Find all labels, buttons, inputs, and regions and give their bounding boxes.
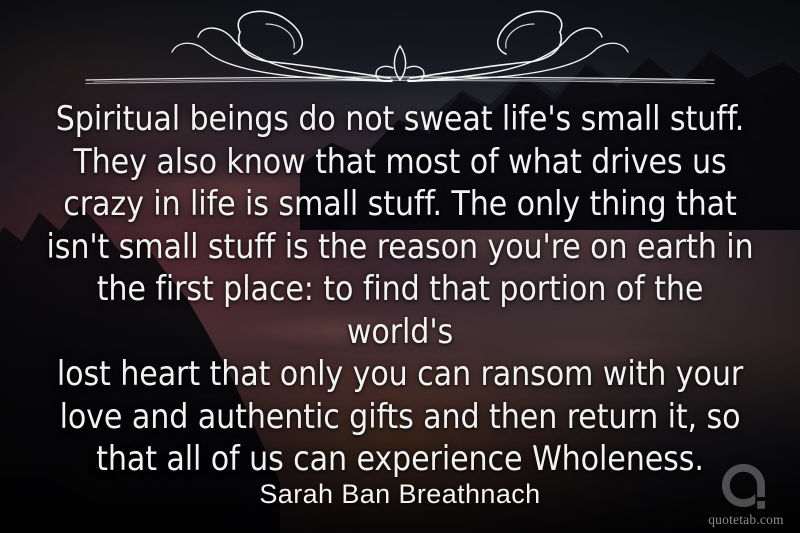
flourish-divider-ornament bbox=[80, 4, 720, 92]
quote-content: Spiritual beings do not sweat life's sma… bbox=[0, 0, 800, 533]
quotetab-logo-icon bbox=[719, 461, 773, 511]
watermark-site-label: quotetab.com bbox=[708, 513, 784, 527]
quote-text: Spiritual beings do not sweat life's sma… bbox=[40, 98, 760, 481]
quote-author: Sarah Ban Breathnach bbox=[0, 479, 800, 509]
quote-card: Spiritual beings do not sweat life's sma… bbox=[0, 0, 800, 533]
watermark[interactable]: quotetab.com bbox=[700, 461, 792, 527]
